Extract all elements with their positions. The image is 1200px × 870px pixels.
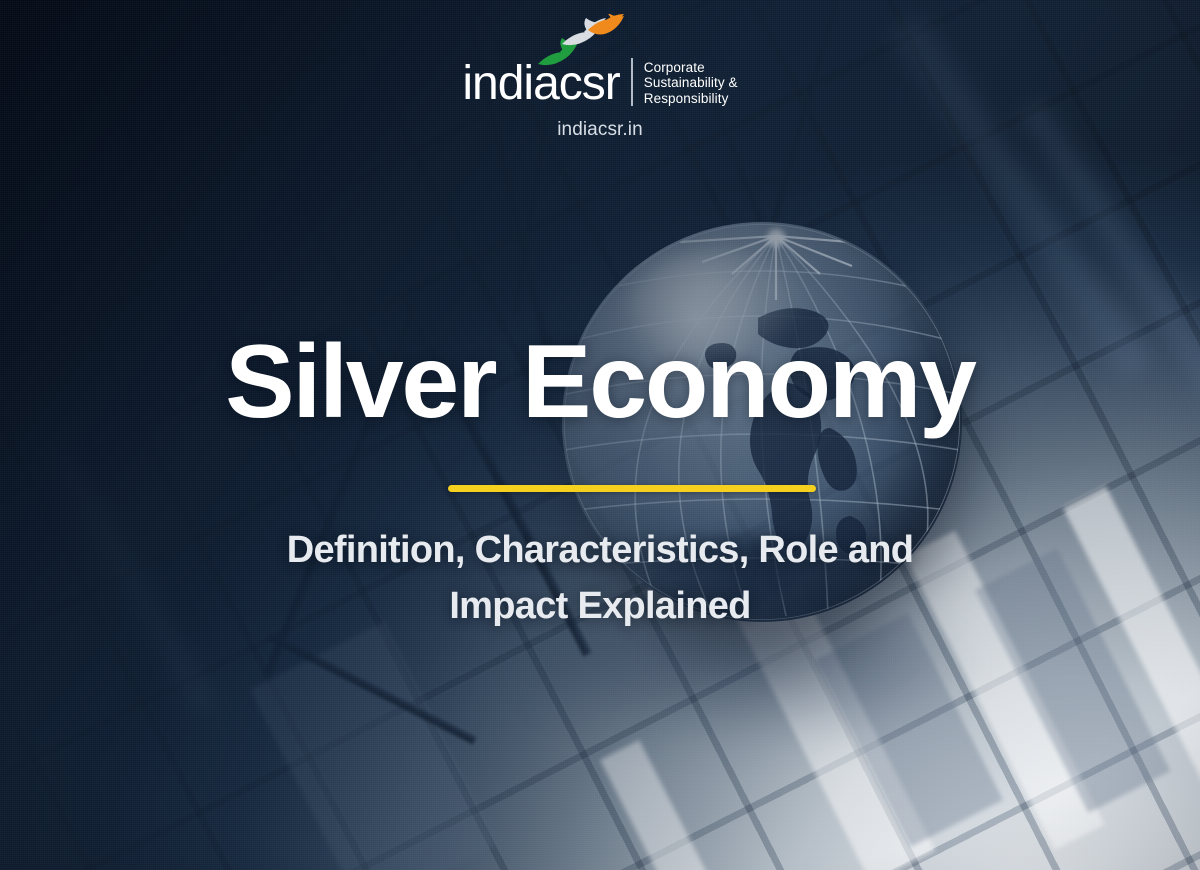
tagline-line-1: Corporate <box>644 60 705 75</box>
birds-icon <box>536 14 626 76</box>
page-title: Silver Economy <box>0 330 1200 434</box>
hero-banner: indiacsr Corpo <box>0 0 1200 870</box>
logo-lockup: indiacsr Corpo <box>462 58 737 108</box>
logo-divider <box>631 58 633 106</box>
site-logo[interactable]: indiacsr Corpo <box>0 58 1200 141</box>
subtitle-line-2: Impact Explained <box>449 585 750 627</box>
tagline-line-2: Sustainability & <box>644 75 738 90</box>
website-url[interactable]: indiacsr.in <box>557 119 643 141</box>
page-subtitle: Definition, Characteristics, Role and Im… <box>120 522 1080 634</box>
subtitle-line-1: Definition, Characteristics, Role and <box>287 529 914 571</box>
logo-tagline: Corporate Sustainability & Responsibilit… <box>644 60 738 109</box>
accent-divider <box>448 485 816 492</box>
tagline-line-3: Responsibility <box>644 91 729 106</box>
